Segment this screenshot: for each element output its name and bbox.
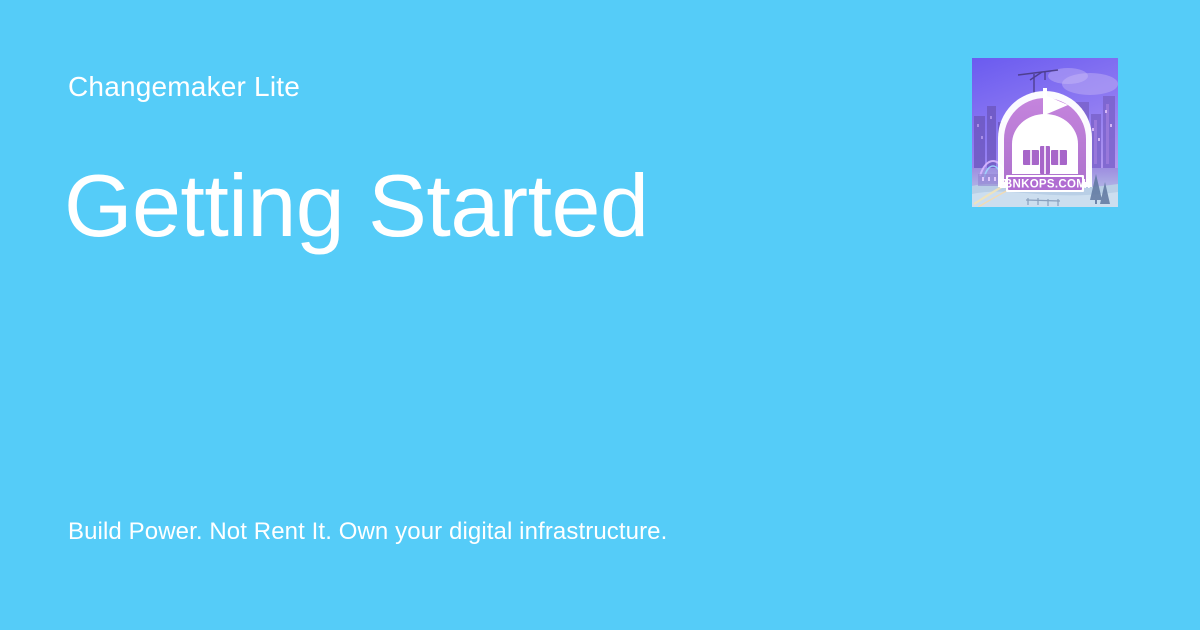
tagline: Build Power. Not Rent It. Own your digit… — [68, 516, 667, 547]
og-share-card: Changemaker Lite Getting Started Build P… — [0, 0, 1200, 630]
eyebrow-label: Changemaker Lite — [68, 70, 300, 104]
page-title: Getting Started — [64, 158, 648, 253]
logo-banner-label: BNKOPS.COM — [1004, 179, 1086, 191]
bnkops-logo-icon: BNKOPS.COM BNKOPS.COM — [972, 58, 1118, 207]
